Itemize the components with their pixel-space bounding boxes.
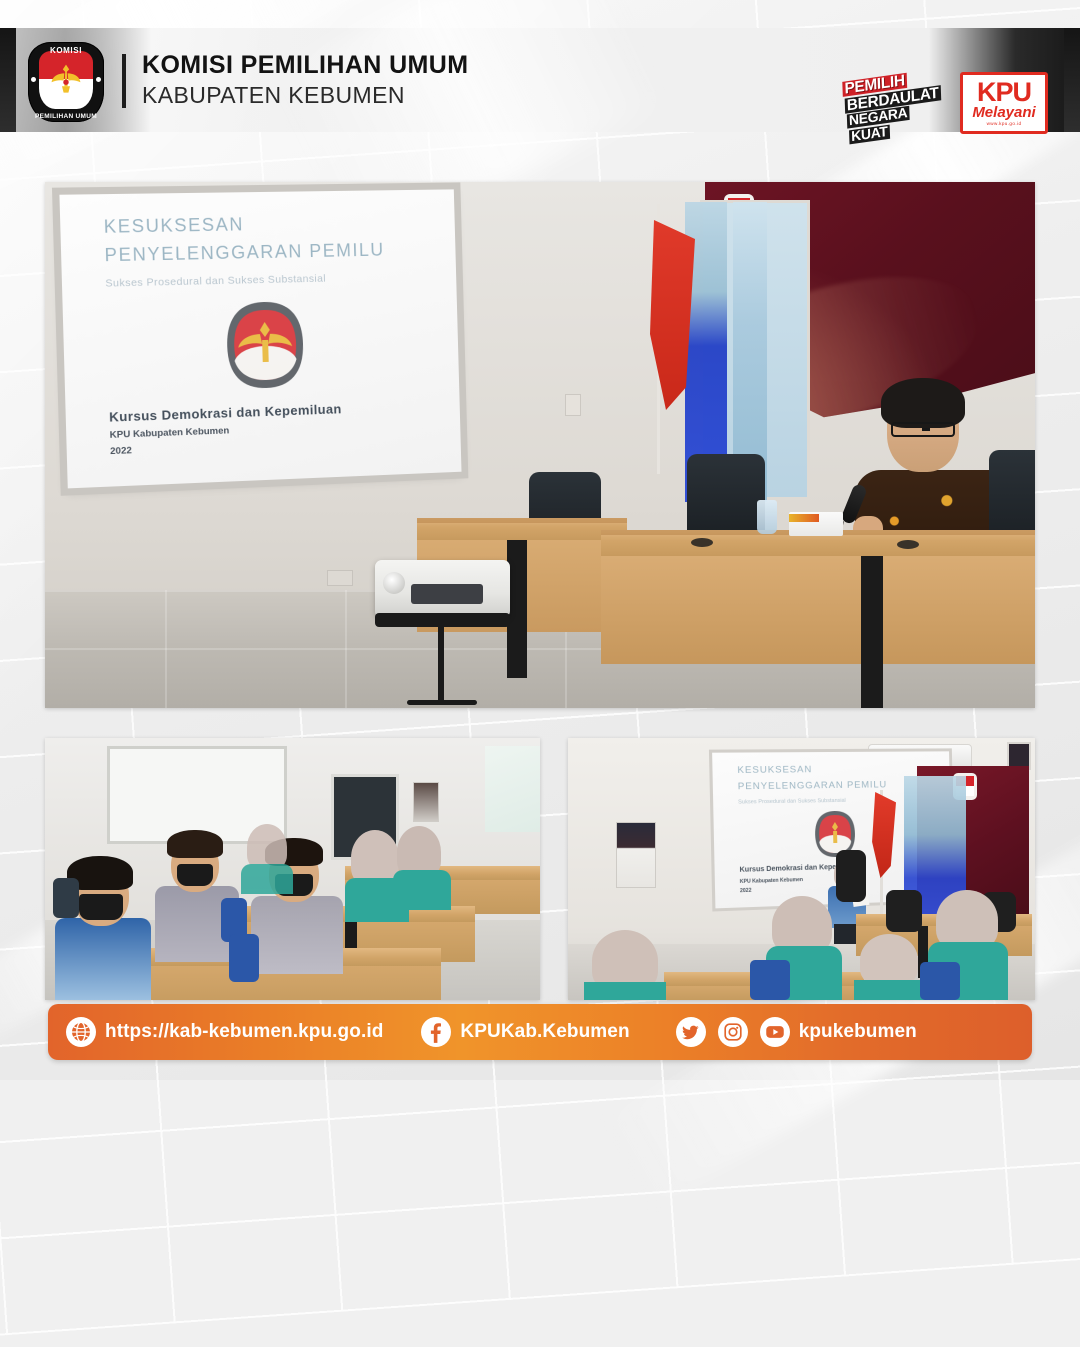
slide-footer-line-3: 2022 [110,445,132,457]
twitter-link[interactable] [676,1017,706,1047]
participant [155,830,239,962]
instagram-link[interactable] [718,1017,748,1047]
youtube-handle-text: kpukebumen [799,1021,917,1043]
speaker-hair [881,378,965,428]
kpu-melayani-logo: KPU Melayani www.kpu.go.id [960,72,1048,134]
participant [854,934,928,1000]
meeting-table [417,518,627,540]
slide-kpu-emblem-icon [221,299,307,391]
wall-poster [413,782,439,822]
website-link[interactable]: https://kab-kebumen.kpu.go.id [66,1017,383,1047]
globe-icon [66,1017,96,1047]
participant [584,930,666,1000]
classroom-chair [920,962,960,1000]
header-divider [122,54,126,108]
participant-shirt [854,980,928,1000]
audience-photo: KESUKSESAN PENYELENGGARAN PEMILU Sukses … [568,738,1035,1000]
stacked-chairs [53,878,79,918]
participant-shirt [241,864,293,894]
projector-port-panel [411,584,483,604]
projector-device [375,560,510,618]
instagram-icon [718,1017,748,1047]
kpu-url-text: www.kpu.go.id [987,121,1022,126]
slide-title-line-1: KESUKSESAN [103,214,244,238]
office-chair [886,890,922,932]
main-event-photo: kab-kebumen.kpu.go.id KPU RI KPU Republi… [45,182,1035,708]
header-title-primary: KOMISI PEMILIHAN UMUM [142,50,468,81]
projection-screen: KESUKSESAN PENYELENGGARAN PEMILU Sukses … [59,189,461,488]
facebook-icon [421,1017,451,1047]
speaker-glasses [891,422,955,437]
table-cable-grommet [691,538,713,547]
slide-footer-line-3: 2022 [740,888,752,894]
slide-title-line-2: PENYELENGGARAN PEMILU [738,779,887,792]
slide-footer-line-2: KPU Kabupaten Kebumen [110,425,230,441]
participant-shirt [393,870,451,910]
facebook-handle-text: KPUKab.Kebumen [460,1021,629,1043]
website-url-text: https://kab-kebumen.kpu.go.id [105,1021,383,1043]
hijab [936,890,998,950]
projector-stand-feet [407,700,477,705]
garuda-icon [50,62,82,96]
kpu-melayani-text: Melayani [972,105,1035,120]
face-mask-icon [79,894,123,920]
facebook-link[interactable]: KPUKab.Kebumen [421,1017,629,1047]
slide-subtitle: Sukses Prosedural dan Sukses Substansial [738,798,846,806]
logo-text-top: KOMISI [28,46,104,55]
header-right-cap [1064,28,1080,132]
participants-photo [45,738,540,1000]
kpu-acronym: KPU [977,80,1031,105]
projection-glow [485,746,540,832]
face-mask-icon [177,864,213,886]
table-leg [507,540,527,678]
drinking-glass [757,500,777,534]
slide-subtitle: Sukses Prosedural dan Sukses Substansial [105,273,326,290]
campaign-tagline: PEMILIH BERDAULAT NEGARA KUAT [841,67,958,140]
stationery-items [789,514,819,522]
header-titles: KOMISI PEMILIHAN UMUM KABUPATEN KEBUMEN [142,50,468,109]
wall-socket [327,570,353,586]
wall-switch [565,394,581,416]
logo-text-bottom: PEMILIHAN UMUM [28,113,104,120]
slide-footer-line-2: KPU Kabupaten Kebumen [740,877,803,885]
office-chair [836,850,866,902]
participant [241,824,293,894]
table-leg [861,556,883,708]
table-cable-grommet [897,540,919,549]
projector-stand [438,616,444,702]
youtube-icon [760,1017,790,1047]
slide-footer-line-1: Kursus Demokrasi dan Kepemiluan [109,401,342,424]
participant-hair [167,830,223,858]
header-title-secondary: KABUPATEN KEBUMEN [142,81,468,109]
participant [393,826,451,910]
classroom-chair [229,934,259,982]
social-footer-bar: https://kab-kebumen.kpu.go.id KPUKab.Keb… [48,1004,1032,1060]
projector-lens-icon [383,572,405,594]
page-header: KOMISI PEMILIHAN UMUM KOMISI PEMILIHAN U… [0,28,1080,132]
slide-title-line-2: PENYELENGGARAN PEMILU [104,240,385,267]
participant-shirt [584,982,666,1000]
hijab [860,934,918,986]
youtube-link[interactable]: kpukebumen [760,1017,917,1047]
classroom-chair [750,960,790,1000]
kpu-shield-logo: KOMISI PEMILIHAN UMUM [28,42,104,122]
participant-shirt [55,918,151,1000]
twitter-icon [676,1017,706,1047]
wall-poster [616,822,656,888]
header-left-cap [0,28,16,132]
slide-title-line-1: KESUKSESAN [737,764,812,776]
participant-shirt [251,896,343,974]
meeting-table-front [601,556,1035,664]
